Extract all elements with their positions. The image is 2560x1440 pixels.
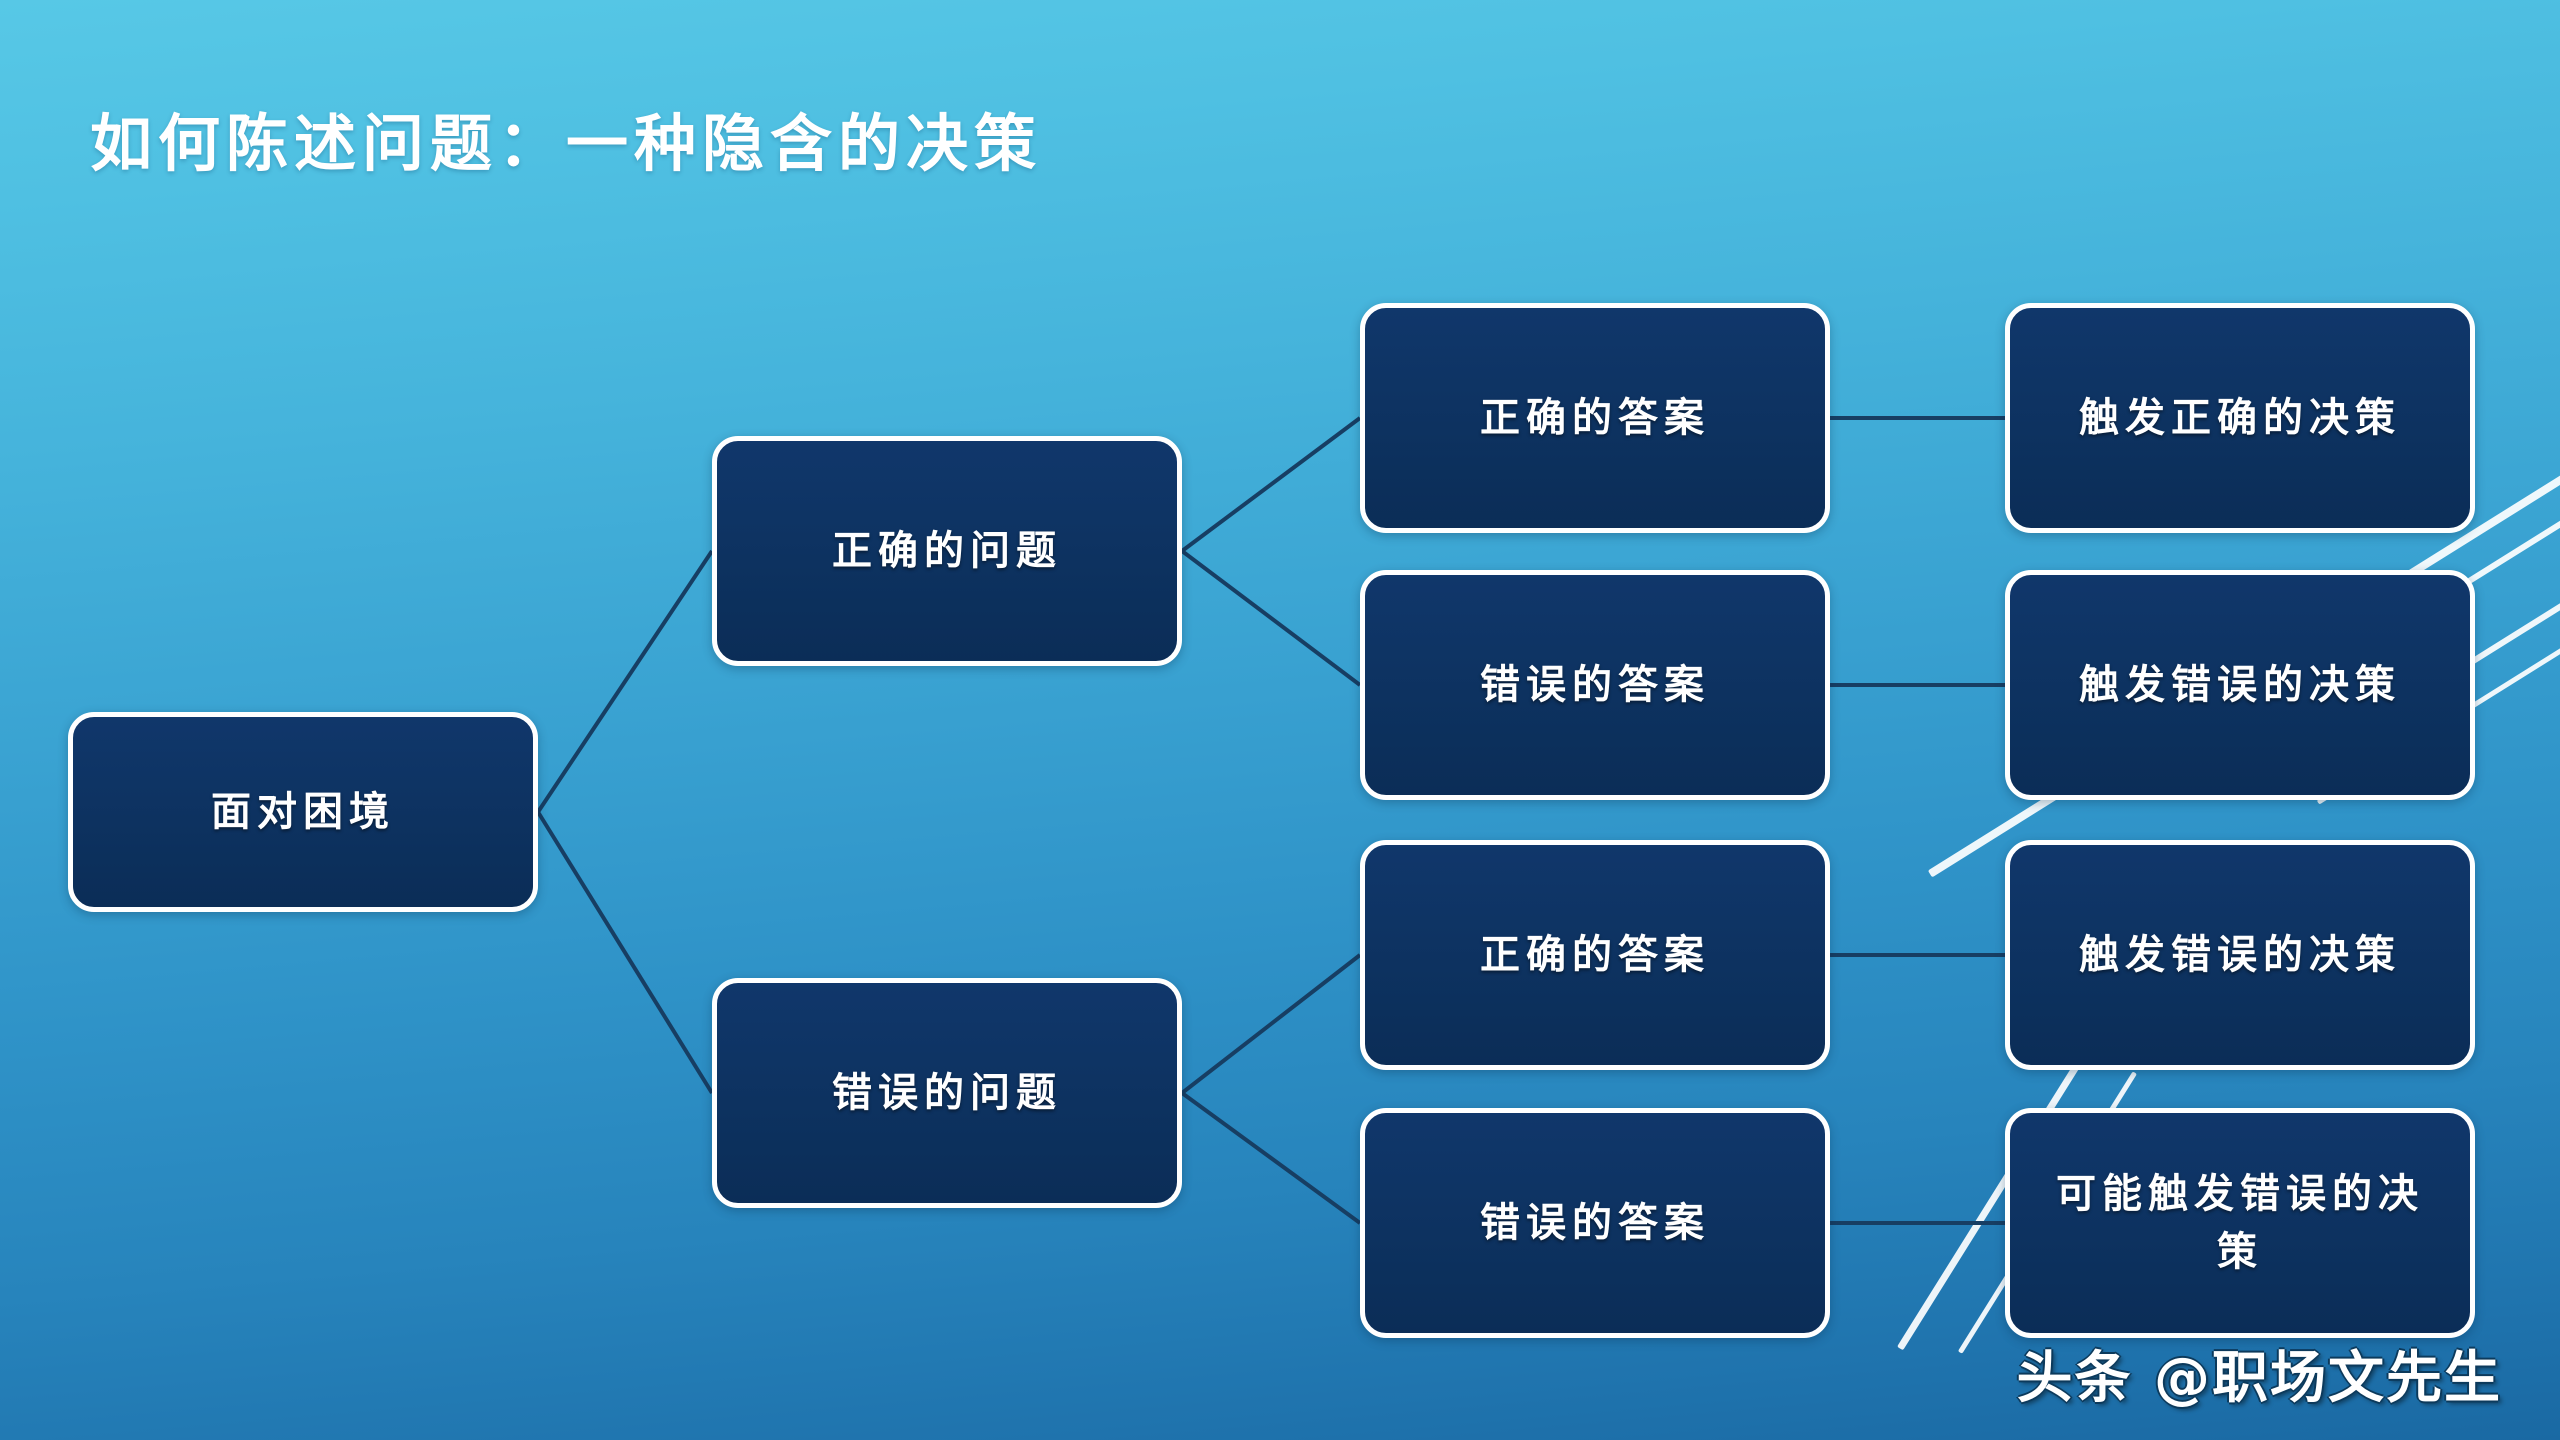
node-label: 正确的问题 xyxy=(832,522,1062,580)
node-label: 触发错误的决策 xyxy=(2079,926,2401,984)
node-label: 面对困境 xyxy=(211,783,395,841)
node-n5[interactable]: 正确的答案 xyxy=(1360,840,1830,1070)
node-label: 错误的答案 xyxy=(1480,1194,1710,1252)
node-label: 正确的答案 xyxy=(1480,389,1710,447)
node-label: 正确的答案 xyxy=(1480,926,1710,984)
node-n4[interactable]: 错误的答案 xyxy=(1360,570,1830,800)
connector-n0-n2 xyxy=(538,812,712,1093)
connector-n1-n3 xyxy=(1182,418,1360,551)
slide-canvas: 如何陈述问题：一种隐含的决策 面对困境正确的问题错误的问题正确的答案错误的答案正… xyxy=(0,0,2560,1440)
page-title: 如何陈述问题：一种隐含的决策 xyxy=(90,110,1042,178)
node-n8[interactable]: 触发错误的决策 xyxy=(2005,570,2475,800)
connector-n0-n1 xyxy=(538,551,712,812)
node-n1[interactable]: 正确的问题 xyxy=(712,436,1182,666)
node-n3[interactable]: 正确的答案 xyxy=(1360,303,1830,533)
node-label: 触发正确的决策 xyxy=(2079,389,2401,447)
connector-n1-n4 xyxy=(1182,551,1360,685)
node-n0[interactable]: 面对困境 xyxy=(68,712,538,912)
node-label: 错误的答案 xyxy=(1480,656,1710,714)
connector-n2-n6 xyxy=(1182,1093,1360,1223)
node-label: 错误的问题 xyxy=(832,1064,1062,1122)
node-n9[interactable]: 触发错误的决策 xyxy=(2005,840,2475,1070)
node-n6[interactable]: 错误的答案 xyxy=(1360,1108,1830,1338)
connector-n2-n5 xyxy=(1182,955,1360,1093)
node-label: 可能触发错误的决策 xyxy=(2050,1165,2430,1281)
node-n10[interactable]: 可能触发错误的决策 xyxy=(2005,1108,2475,1338)
node-n7[interactable]: 触发正确的决策 xyxy=(2005,303,2475,533)
node-label: 触发错误的决策 xyxy=(2079,656,2401,714)
node-n2[interactable]: 错误的问题 xyxy=(712,978,1182,1208)
watermark-label: 头条 @职场文先生 xyxy=(2017,1333,2503,1414)
